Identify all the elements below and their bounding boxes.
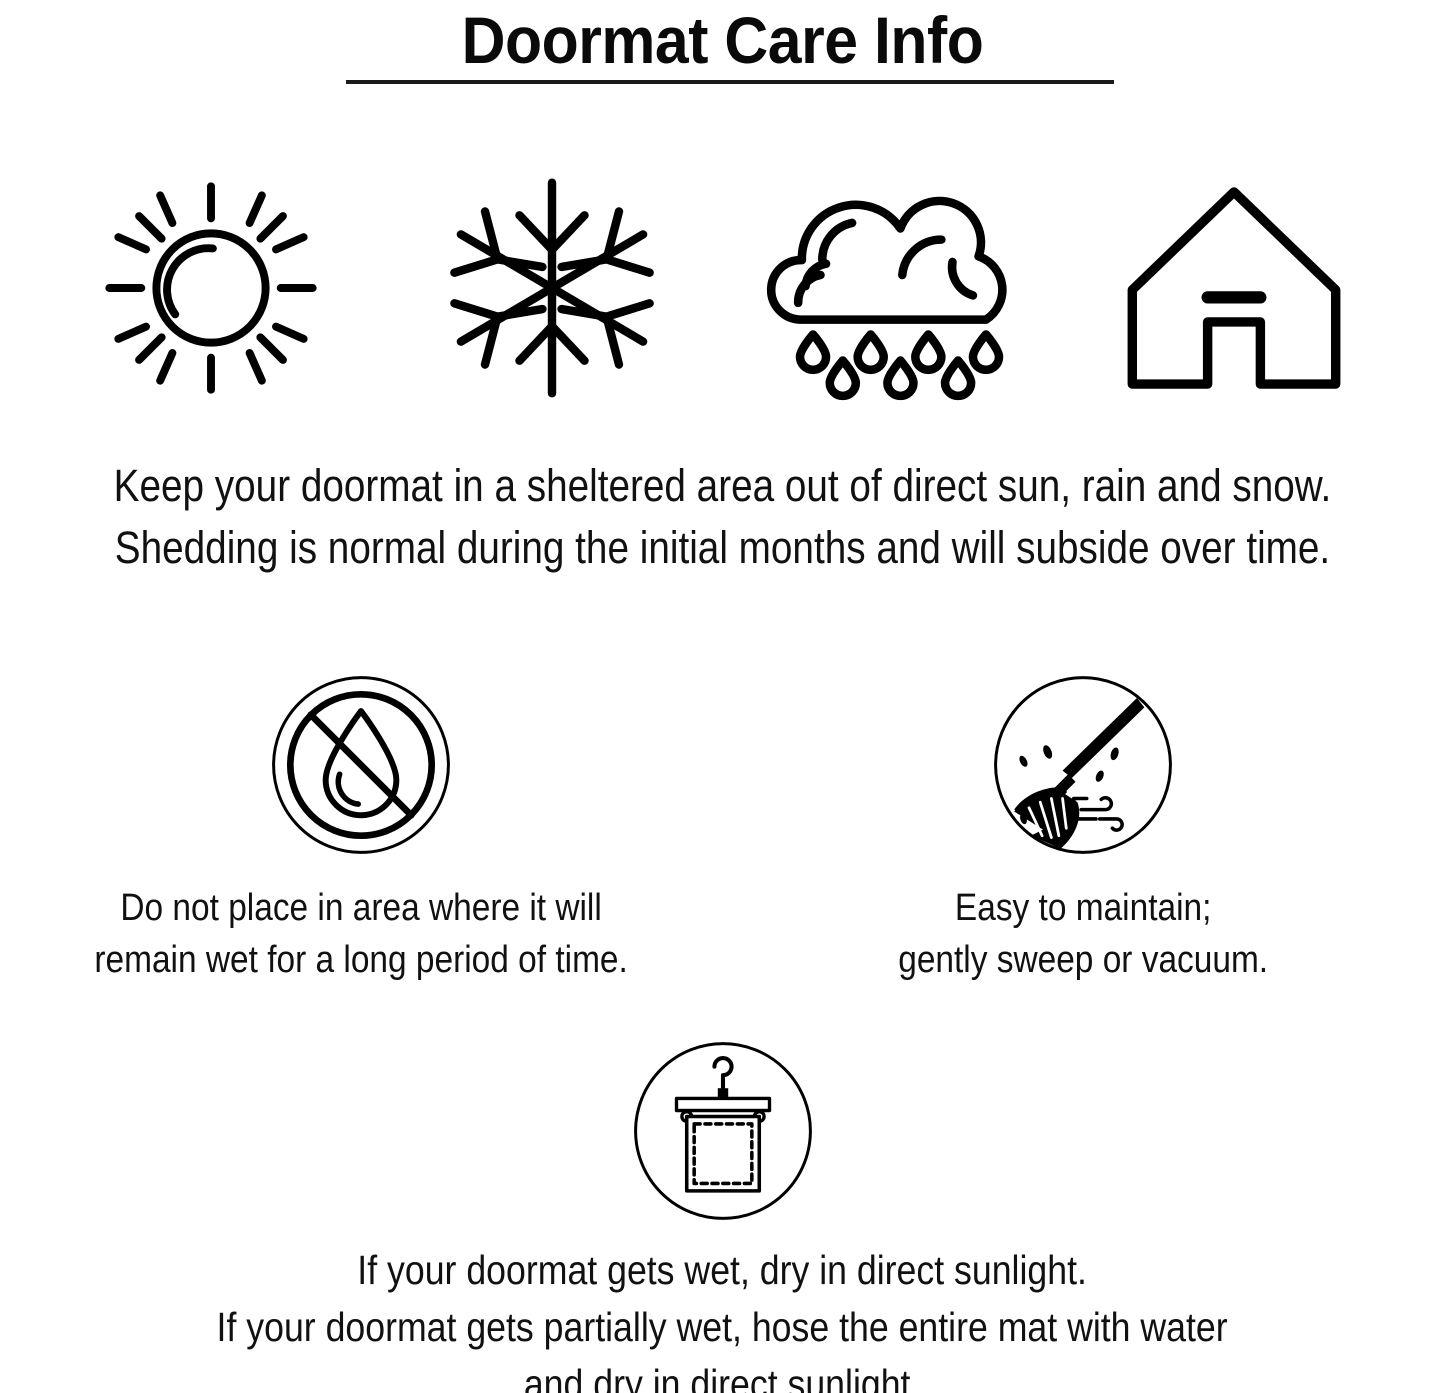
sweep-caption-line-2: gently sweep or vacuum. <box>898 934 1268 986</box>
no-water-caption-line-2: remain wet for a long period of time. <box>94 934 627 986</box>
broom-icon-wrap <box>990 672 1176 858</box>
broom-sweeping-icon <box>990 672 1176 858</box>
weather-cell-snowflake <box>427 172 677 404</box>
sun-icon <box>96 175 326 401</box>
sweep-caption: Easy to maintain; gently sweep or vacuum… <box>873 882 1293 986</box>
care-instructions-row: Do not place in area where it will remai… <box>0 672 1445 986</box>
drying-instructions-block: If your doormat gets wet, dry in direct … <box>0 1038 1445 1393</box>
weather-cell-sun <box>86 172 336 404</box>
no-water-icon-wrap <box>268 672 454 858</box>
care-item-no-standing-water: Do not place in area where it will remai… <box>0 672 722 986</box>
no-water-caption-line-1: Do not place in area where it will <box>94 882 627 934</box>
intro-line-2: Shedding is normal during the initial mo… <box>101 517 1344 579</box>
snowflake-icon <box>446 177 658 399</box>
care-item-sweep-or-vacuum: Easy to maintain; gently sweep or vacuum… <box>722 672 1444 986</box>
rain-cloud-icon <box>770 182 1016 394</box>
no-water-droplet-icon <box>268 672 454 858</box>
intro-paragraph: Keep your doormat in a sheltered area ou… <box>0 455 1445 579</box>
drying-caption: If your doormat gets wet, dry in direct … <box>141 1242 1303 1393</box>
weather-icon-row <box>0 168 1445 408</box>
no-water-caption: Do not place in area where it will remai… <box>58 882 664 986</box>
title-underline-rule <box>346 80 1114 84</box>
page-header: Doormat Care Info <box>0 0 1445 76</box>
hang-dry-icon-wrap <box>630 1038 816 1224</box>
page-title: Doormat Care Info <box>58 0 1387 76</box>
drying-caption-line-3: and dry in direct sunlight. <box>217 1356 1228 1393</box>
drying-caption-line-1: If your doormat gets wet, dry in direct … <box>217 1242 1228 1299</box>
doormat-care-info-page: Doormat Care Info <box>0 0 1445 1393</box>
weather-cell-house <box>1109 172 1359 404</box>
weather-cell-rain-cloud <box>768 172 1018 404</box>
sweep-caption-line-1: Easy to maintain; <box>898 882 1268 934</box>
drying-caption-line-2: If your doormat gets partially wet, hose… <box>217 1299 1228 1356</box>
intro-line-1: Keep your doormat in a sheltered area ou… <box>101 455 1344 517</box>
house-icon <box>1121 182 1347 394</box>
hang-dry-mat-icon <box>630 1038 816 1224</box>
